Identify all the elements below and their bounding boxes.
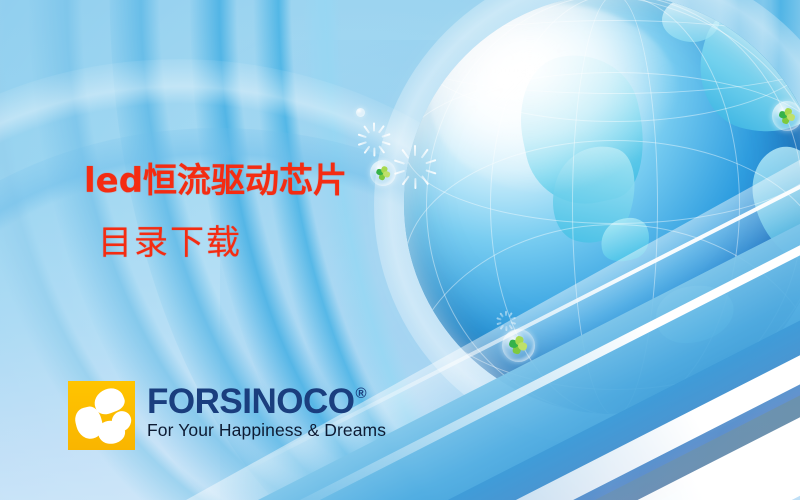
- brand-logo[interactable]: FORSINOCO® For Your Happiness & Dreams: [68, 381, 386, 450]
- bubble-icon: [772, 101, 800, 131]
- registered-trademark-icon: ®: [355, 386, 366, 401]
- banner-canvas: led恒流驱动芯片 目录下载 FORSINOCO® For Your Happi…: [0, 0, 800, 500]
- sparkle-icon: [366, 123, 383, 140]
- brand-name: FORSINOCO: [147, 384, 354, 419]
- headline-line-2: 目录下载: [98, 226, 347, 260]
- headline-block: led恒流驱动芯片 目录下载: [84, 164, 347, 260]
- pinwheel-icon: [778, 107, 796, 125]
- pinwheel-icon: [508, 335, 528, 355]
- brand-tagline: For Your Happiness & Dreams: [147, 421, 386, 440]
- headline-line-1: led恒流驱动芯片: [84, 164, 347, 198]
- logo-wordmark: FORSINOCO® For Your Happiness & Dreams: [147, 381, 386, 440]
- sparkle-icon: [501, 311, 511, 321]
- sparkle-icon: [404, 145, 426, 167]
- bubble-icon: [370, 160, 396, 186]
- forsinoco-pinwheel-mark-icon: [68, 381, 135, 450]
- brand-name-row: FORSINOCO®: [147, 384, 386, 419]
- pinwheel-icon: [375, 165, 391, 181]
- bubble-icon: [502, 329, 535, 362]
- bubble-icon: [356, 108, 365, 117]
